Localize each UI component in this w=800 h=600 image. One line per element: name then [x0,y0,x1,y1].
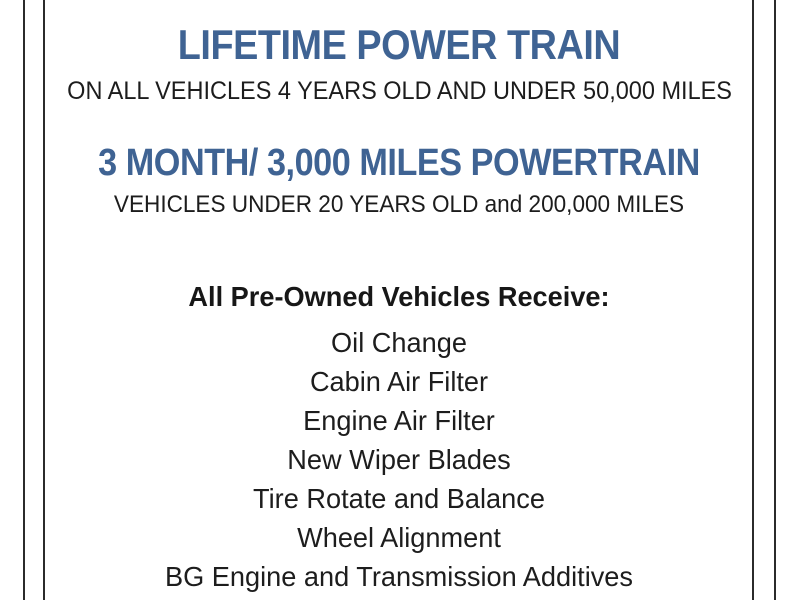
list-item: BG Engine and Transmission Additives [57,557,742,596]
frame-rule-left-inner [43,0,45,600]
services-section: All Pre-Owned Vehicles Receive: Oil Chan… [46,217,752,596]
promotional-flyer: LIFETIME POWER TRAIN ON ALL VEHICLES 4 Y… [0,0,800,600]
services-list: Oil Change Cabin Air Filter Engine Air F… [46,323,752,596]
list-item: Tire Rotate and Balance [57,479,742,518]
list-item: Wheel Alignment [57,518,742,557]
frame-rule-right-outer [774,0,776,600]
list-item: New Wiper Blades [57,440,742,479]
services-heading: All Pre-Owned Vehicles Receive: [57,283,742,323]
warranty-subhead-three-month: VEHICLES UNDER 20 YEARS OLD and 200,000 … [67,182,731,217]
frame-rule-left-outer [23,0,25,600]
frame-rule-right-inner [752,0,754,600]
list-item: Oil Change [57,323,742,362]
warranty-subhead-lifetime: ON ALL VEHICLES 4 YEARS OLD AND UNDER 50… [67,66,731,104]
warranty-headline-lifetime: LIFETIME POWER TRAIN [81,24,716,66]
flyer-content: LIFETIME POWER TRAIN ON ALL VEHICLES 4 Y… [46,0,752,600]
list-item: Engine Air Filter [57,401,742,440]
warranty-block-three-month: 3 MONTH/ 3,000 MILES POWERTRAIN VEHICLES… [46,104,752,217]
warranty-block-lifetime: LIFETIME POWER TRAIN ON ALL VEHICLES 4 Y… [46,0,752,104]
warranty-headline-three-month: 3 MONTH/ 3,000 MILES POWERTRAIN [81,144,716,182]
list-item: Cabin Air Filter [57,362,742,401]
